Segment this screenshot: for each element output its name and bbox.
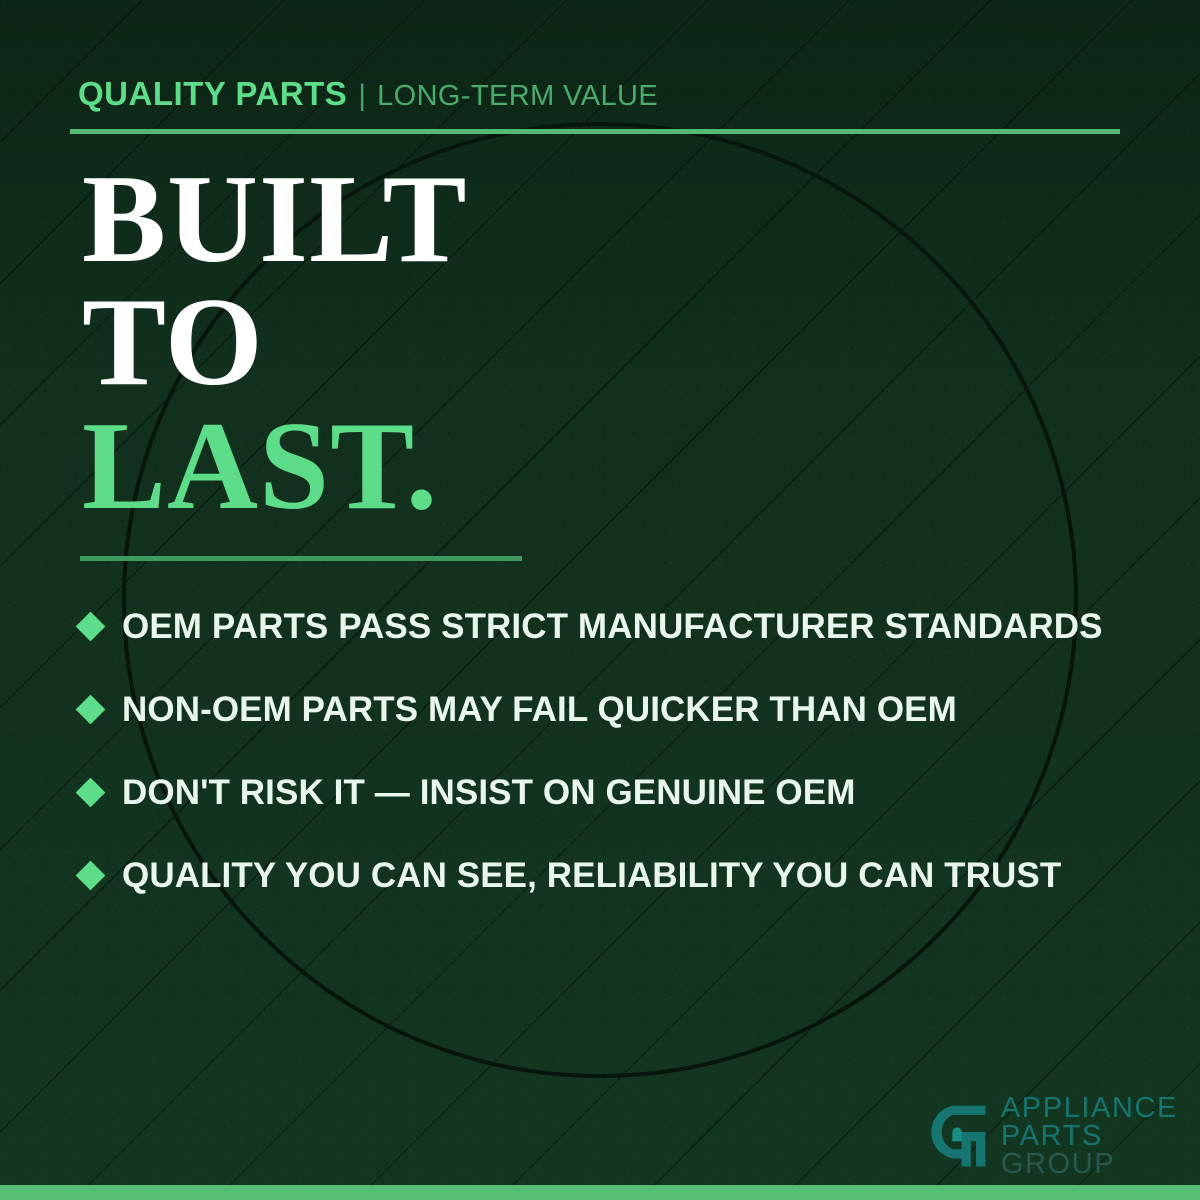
diamond-bullet-icon [76,778,106,808]
benefit-list: OEM PARTS PASS STRICT MANUFACTURER STAND… [80,585,1160,917]
headline-underline-rule [80,556,522,561]
diamond-bullet-icon [76,695,106,725]
diamond-bullet-icon [76,861,106,891]
list-item: OEM PARTS PASS STRICT MANUFACTURER STAND… [80,585,1160,668]
bottom-accent-bar [0,1185,1200,1200]
brand-logo: APPLIANCE PARTS GROUP [922,1094,1178,1178]
eyebrow-sub-text: LONG-TERM VALUE [377,80,658,113]
eyebrow-header: QUALITY PARTS | LONG-TERM VALUE [78,75,658,113]
list-item: DON'T RISK IT — INSIST ON GENUINE OEM [80,751,1160,834]
headline: BUILT TO LAST. [82,158,468,528]
header-divider-rule [70,129,1120,134]
logo-wordmark: APPLIANCE PARTS GROUP [1001,1094,1178,1178]
eyebrow-separator: | [358,79,366,113]
list-item-label: NON-OEM PARTS MAY FAIL QUICKER THAN OEM [122,690,957,730]
list-item-label: DON'T RISK IT — INSIST ON GENUINE OEM [122,773,855,813]
list-item-label: OEM PARTS PASS STRICT MANUFACTURER STAND… [122,607,1103,647]
list-item: QUALITY YOU CAN SEE, RELIABILITY YOU CAN… [80,834,1160,917]
headline-line-2: TO [82,281,468,404]
headline-line-1: BUILT [82,158,468,281]
list-item: NON-OEM PARTS MAY FAIL QUICKER THAN OEM [80,668,1160,751]
diamond-bullet-icon [76,612,106,642]
logo-line-3: GROUP [1001,1150,1178,1178]
logo-line-1: APPLIANCE [1001,1094,1178,1122]
g-monogram-icon [922,1103,988,1169]
logo-line-2: PARTS [1001,1122,1178,1150]
eyebrow-main-text: QUALITY PARTS [78,75,347,113]
list-item-label: QUALITY YOU CAN SEE, RELIABILITY YOU CAN… [122,856,1061,896]
poster-canvas: QUALITY PARTS | LONG-TERM VALUE BUILT TO… [0,0,1200,1200]
headline-line-3: LAST. [82,405,468,528]
